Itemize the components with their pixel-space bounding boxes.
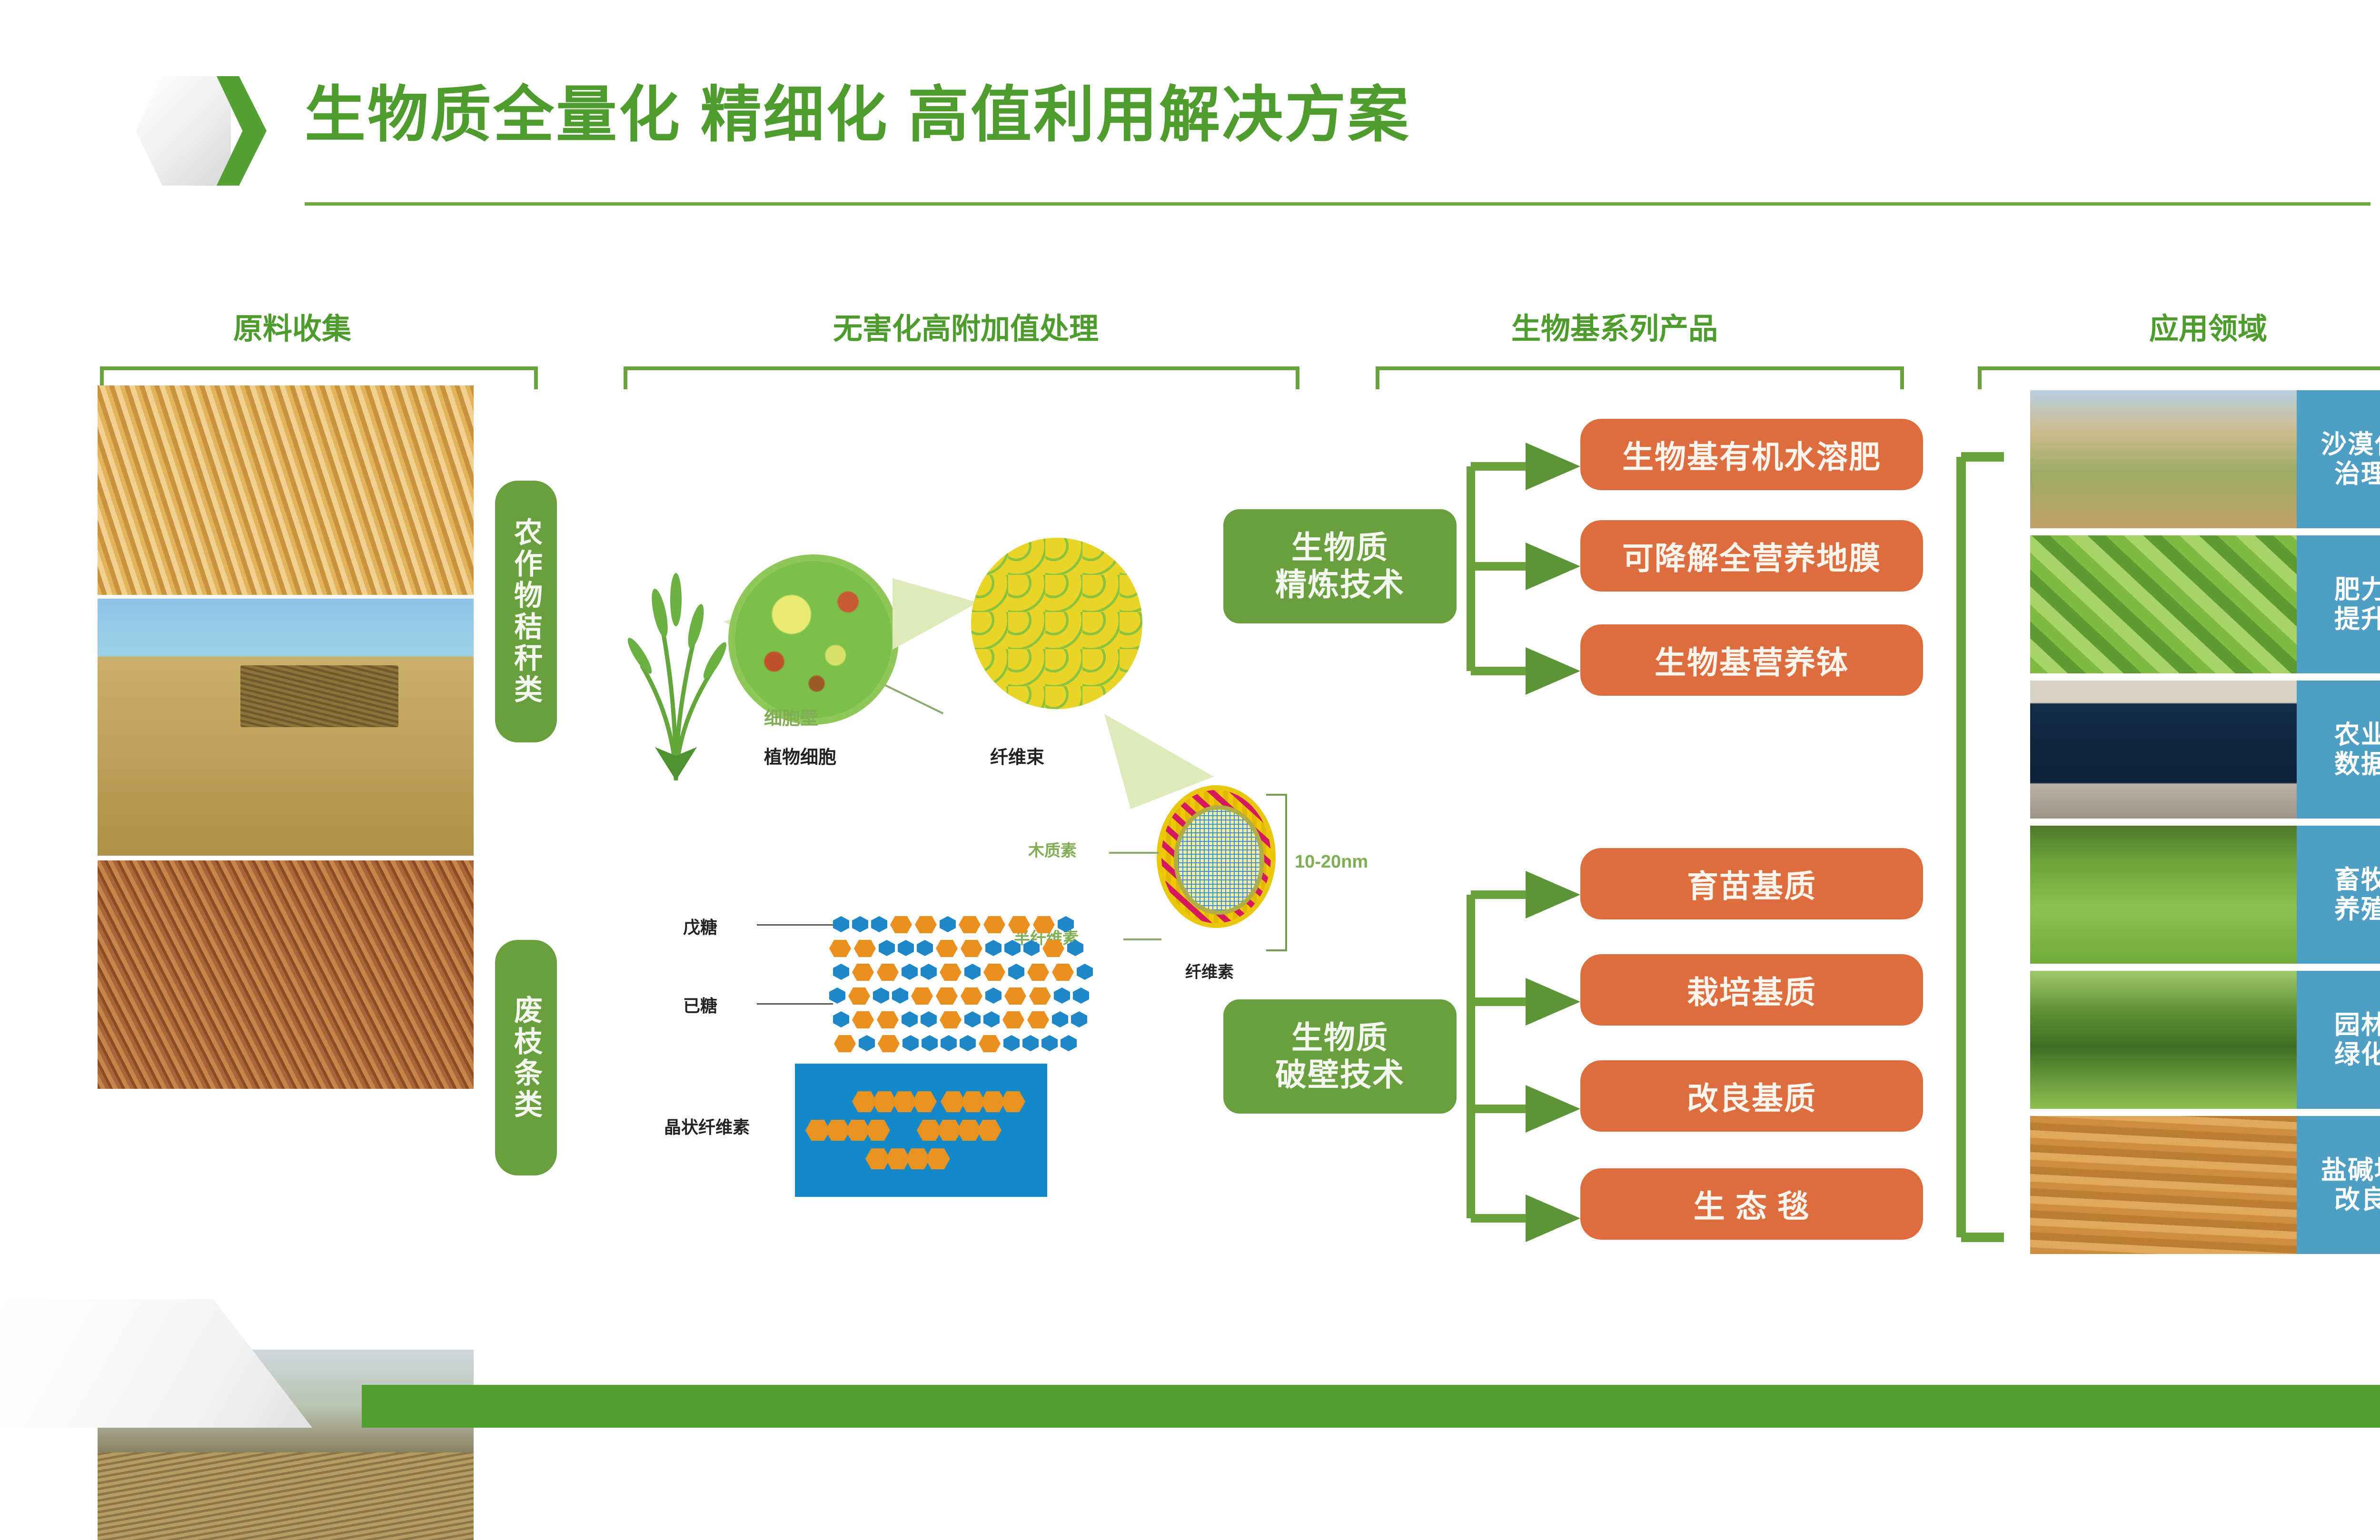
label-plant-cell: 植物细胞 [764,742,836,769]
tech-wallbreaking-line2: 破壁技术 [1275,1056,1405,1094]
application-desert-line1: 沙漠化 [2321,430,2380,459]
application-fertility-line1: 肥力 [2334,575,2380,604]
label-fiber-bundle: 纤维束 [990,742,1044,769]
dimension-tick-top [1266,794,1287,796]
application-row-landscape[interactable]: 园林 绿化 [2030,971,2380,1109]
photo-saline-alkali-land [2030,1116,2297,1254]
plant-cell-diagram [728,554,899,725]
photo-data-control-room [2030,681,2297,819]
column-header-collection: 原料收集 [233,305,351,347]
footer-green-bar [362,1385,2380,1428]
application-agridata-line1: 农业 [2334,720,2380,750]
application-landscape-line1: 园林 [2334,1010,2380,1040]
application-fertility-line2: 提升 [2334,604,2380,634]
application-tag-fertility: 肥力 提升 [2297,535,2380,673]
photo-pruned-branches [98,860,474,1089]
infographic-canvas: 生物质全量化 精细化 高值利用解决方案 原料收集 无害化高附加值处理 生物基系列… [0,0,2380,1428]
tech-pill-wallbreaking[interactable]: 生物质 破壁技术 [1223,999,1457,1114]
title-divider [305,202,2370,206]
sugar-chain-row [833,964,1093,981]
dimension-tick-bottom [1266,949,1287,951]
tech-wallbreaking-line1: 生物质 [1291,1019,1388,1056]
fibril-cross-section [1157,785,1276,928]
feedstock-label-waste-branches: 废枝条类 [495,940,557,1175]
application-livestock-line2: 养殖 [2334,895,2380,924]
hex-badge-grey-shape [136,76,231,186]
sugar-chain-row [833,1011,1087,1028]
column-header-processing: 无害化高附加值处理 [833,305,1099,347]
product-bio-nutrition-pot[interactable]: 生物基营养钵 [1580,624,1923,696]
label-fibril-dimension: 10-20nm [1295,852,1368,872]
application-tag-livestock: 畜牧 养殖 [2297,826,2380,964]
application-tag-desert: 沙漠化 治理 [2297,390,2380,528]
application-row-agridata[interactable]: 农业 数据 [2030,681,2380,819]
product-ecological-blanket[interactable]: 生 态 毯 [1580,1168,1923,1240]
application-saline-line1: 盐碱地 [2321,1155,2380,1185]
zoom-wedge-fiber [892,578,978,650]
application-saline-line2: 改良 [2334,1185,2380,1214]
application-desert-line2: 治理 [2334,459,2380,489]
product-degradable-mulch-film[interactable]: 可降解全营养地膜 [1580,520,1923,592]
column-header-products: 生物基系列产品 [1511,305,1718,347]
product-bio-water-soluble-fertilizer[interactable]: 生物基有机水溶肥 [1580,419,1923,490]
dimension-bar-vertical [1285,794,1287,951]
application-tag-landscape: 园林 绿化 [2297,971,2380,1109]
fiber-bundle-diagram [971,538,1142,709]
application-row-livestock[interactable]: 畜牧 养殖 [2030,826,2380,964]
application-row-fertility[interactable]: 肥力 提升 [2030,535,2380,673]
application-agridata-line2: 数据 [2334,750,2380,779]
sugar-chain-row [834,1035,1077,1052]
application-tag-saline: 盐碱地 改良 [2297,1116,2380,1254]
page-title: 生物质全量化 精细化 高值利用解决方案 [305,85,1410,146]
lignin-leader-line [1109,852,1159,854]
label-pentose: 戊糖 [683,914,717,938]
sugar-chain-row [829,940,1083,957]
label-cellulose: 纤维素 [1185,959,1234,982]
cellulose-core [1174,805,1264,915]
tech-refining-line2: 精炼技术 [1275,566,1405,603]
cell-wall-leader-line [885,684,943,714]
crystalline-cellulose-diagram [795,1064,1047,1197]
application-tag-agridata: 农业 数据 [2297,681,2380,819]
photo-landscaped-park [2030,971,2297,1109]
application-landscape-line2: 绿化 [2334,1040,2380,1069]
column-header-applications: 应用领域 [2149,305,2267,347]
bracket-applications [1978,366,2380,389]
tech-pill-refining[interactable]: 生物质 精炼技术 [1223,509,1457,623]
photo-corn-straw [98,385,474,595]
application-livestock-line1: 畜牧 [2334,865,2380,895]
pentose-leader-line [757,924,833,926]
photo-cabbage-field [2030,535,2297,673]
photo-desert-control [2030,390,2297,528]
photo-sheep-grazing [2030,826,2297,964]
hemicellulose-leader-line [1123,938,1161,940]
hexose-leader-line [757,1003,833,1005]
bracket-products [1376,366,1904,389]
product-seedling-substrate[interactable]: 育苗基质 [1580,848,1923,919]
plant-illustration [605,533,747,780]
sugar-chain-row [829,987,1089,1005]
product-cultivation-substrate[interactable]: 栽培基质 [1580,954,1923,1026]
label-lignin: 木质素 [1028,838,1077,861]
hex-badge-logo [136,76,264,186]
photo-baled-straw [98,599,474,856]
feedstock-label-crop-straw: 农作物秸秆类 [495,481,557,742]
bracket-processing [624,366,1299,389]
label-crystalline-cellulose: 晶状纤维素 [664,1114,750,1138]
label-hexose: 已糖 [683,992,717,1017]
application-row-desert[interactable]: 沙漠化 治理 [2030,390,2380,528]
tech-refining-line1: 生物质 [1291,529,1388,566]
label-cell-wall: 细胞壁 [764,703,818,730]
application-row-saline[interactable]: 盐碱地 改良 [2030,1116,2380,1254]
product-improvement-substrate[interactable]: 改良基质 [1580,1060,1923,1132]
sugar-chain-row [833,916,1074,933]
